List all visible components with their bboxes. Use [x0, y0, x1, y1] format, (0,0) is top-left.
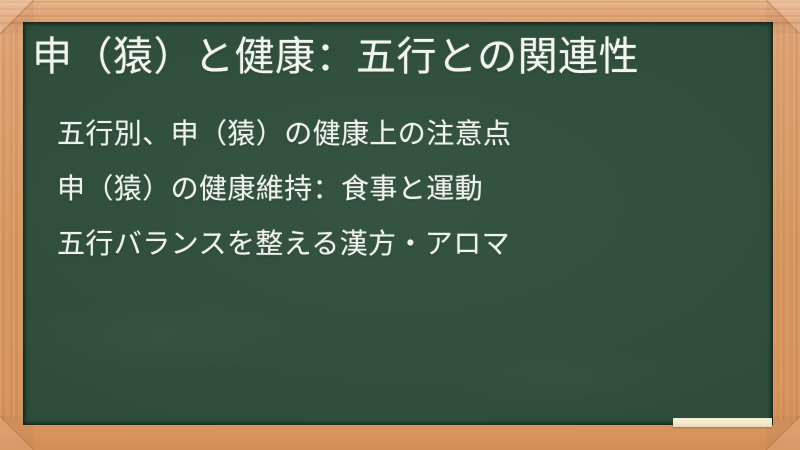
list-item: 五行バランスを整える漢方・アロマ	[57, 216, 757, 271]
chalkboard-surface: 申（猿）と健康：五行との関連性 五行別、申（猿）の健康上の注意点 申（猿）の健康…	[23, 22, 773, 425]
list-item: 五行別、申（猿）の健康上の注意点	[57, 106, 757, 161]
slide-content: 申（猿）と健康：五行との関連性 五行別、申（猿）の健康上の注意点 申（猿）の健康…	[23, 22, 773, 425]
list-item: 申（猿）の健康維持：食事と運動	[57, 161, 757, 216]
page-title: 申（猿）と健康：五行との関連性	[32, 32, 757, 83]
chalk-stick-icon	[673, 418, 772, 427]
bullet-list: 五行別、申（猿）の健康上の注意点 申（猿）の健康維持：食事と運動 五行バランスを…	[57, 106, 757, 271]
slide-canvas: 申（猿）と健康：五行との関連性 五行別、申（猿）の健康上の注意点 申（猿）の健康…	[0, 0, 800, 450]
